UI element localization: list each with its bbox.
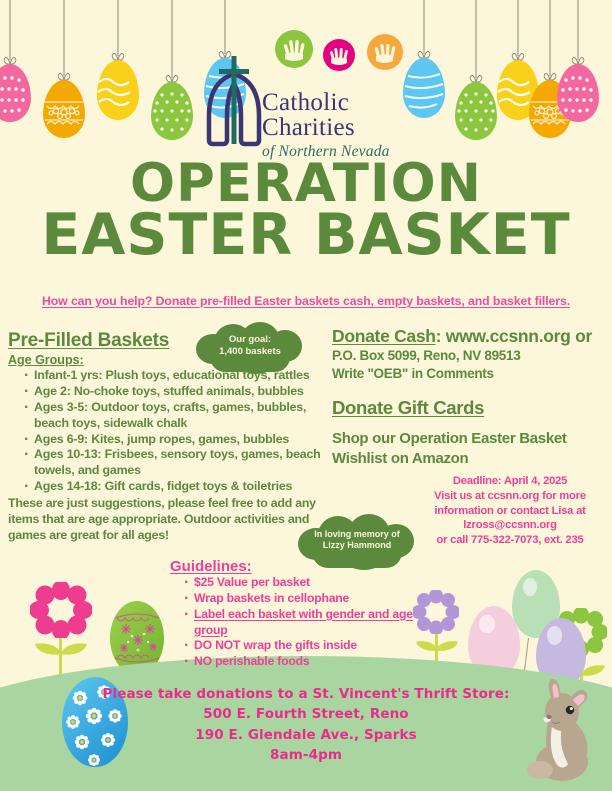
guidelines-heading: Guidelines: <box>170 558 430 575</box>
age-group-list: Infant-1 yrs: Plush toys, educational to… <box>8 368 328 495</box>
donate-cash-url[interactable]: : www.ccsnn.org or <box>436 326 592 346</box>
goal-badge-text: Our goal: 1,400 baskets <box>196 334 304 358</box>
list-item: Wrap baskets in cellophane <box>184 591 430 607</box>
logo-wordmark: Catholic Charities of Northern Nevada <box>262 90 415 161</box>
memorial-line-2: Lizzy Hammond <box>298 540 416 551</box>
hand-circle-orange <box>367 34 403 70</box>
donate-cash-heading: Donate Cash: www.ccsnn.org or <box>332 326 610 347</box>
title-line-2: EASTER BASKET <box>0 209 612 261</box>
list-item: Ages 3-5: Outdoor toys, crafts, games, b… <box>24 400 328 432</box>
guidelines-section: Guidelines: $25 Value per basket Wrap ba… <box>170 558 430 670</box>
list-item: Age 2: No-choke toys, stuffed animals, b… <box>24 384 328 400</box>
flyer-page: Catholic Charities of Northern Nevada OP… <box>0 0 612 791</box>
flyer-subtitle: How can you help? Donate pre-filled East… <box>0 294 612 308</box>
hand-circle-pink <box>323 39 355 71</box>
list-item: Ages 6-9: Kites, jump ropes, games, bubb… <box>24 432 328 448</box>
dropoff-address-sparks: 190 E. Glendale Ave., Sparks <box>86 725 526 745</box>
guidelines-list: $25 Value per basket Wrap baskets in cel… <box>170 575 430 670</box>
catholic-charities-logo: Catholic Charities of Northern Nevada <box>200 28 415 148</box>
deadline-contact-block: Deadline: April 4, 2025 Visit us at ccsn… <box>410 474 610 548</box>
dropoff-hours: 8am-4pm <box>86 745 526 765</box>
dropoff-address-reno: 500 E. Fourth Street, Reno <box>86 704 526 724</box>
bunny-illustration <box>518 678 602 782</box>
contact-email[interactable]: lzross@ccsnn.org <box>410 518 610 533</box>
pre-filled-baskets-section: Pre-Filled Baskets Age Groups: Infant-1 … <box>8 330 328 544</box>
donate-mailing-address: P.O. Box 5099, Reno, NV 89513 <box>332 347 610 365</box>
donate-cash-label: Donate Cash <box>332 326 436 346</box>
deadline-date: Deadline: April 4, 2025 <box>410 474 610 489</box>
list-item: Ages 10-13: Frisbees, sensory toys, game… <box>24 447 328 479</box>
donate-gift-cards-heading: Donate Gift Cards <box>332 397 610 419</box>
deadline-contact-line: information or contact Lisa at <box>410 504 610 519</box>
contact-phone[interactable]: or call 775-322-7073, ext. 235 <box>410 533 610 548</box>
memorial-line-1: In loving memory of <box>298 529 416 540</box>
deadline-visit-line: Visit us at ccsnn.org for more <box>410 489 610 504</box>
list-item: Label each basket with gender and age gr… <box>184 607 430 639</box>
list-item: DO NOT wrap the gifts inside <box>184 638 430 654</box>
donate-section: Donate Cash: www.ccsnn.org or P.O. Box 5… <box>332 326 610 468</box>
list-item: Ages 14-18: Gift cards, fidget toys & to… <box>24 479 328 495</box>
goal-line-1: Our goal: <box>196 334 304 346</box>
donate-comments-note: Write "OEB" in Comments <box>332 365 610 383</box>
suggestions-note: These are just suggestions, please feel … <box>8 496 328 544</box>
hand-circle-green <box>275 30 313 68</box>
logo-org-name: Catholic Charities <box>262 90 415 140</box>
goal-line-2: 1,400 baskets <box>196 346 304 358</box>
list-item: $25 Value per basket <box>184 575 430 591</box>
list-item: Infant-1 yrs: Plush toys, educational to… <box>24 368 328 384</box>
flyer-title: OPERATION EASTER BASKET <box>0 160 612 261</box>
dropoff-locations-block: Please take donations to a St. Vincent's… <box>86 684 526 765</box>
amazon-wishlist-text[interactable]: Shop our Operation Easter Basket Wishlis… <box>332 429 610 468</box>
dropoff-heading: Please take donations to a St. Vincent's… <box>86 684 526 704</box>
memorial-badge-text: In loving memory of Lizzy Hammond <box>298 529 416 552</box>
logo-cross-bell-icon <box>200 56 268 148</box>
list-item: NO perishable foods <box>184 654 430 670</box>
